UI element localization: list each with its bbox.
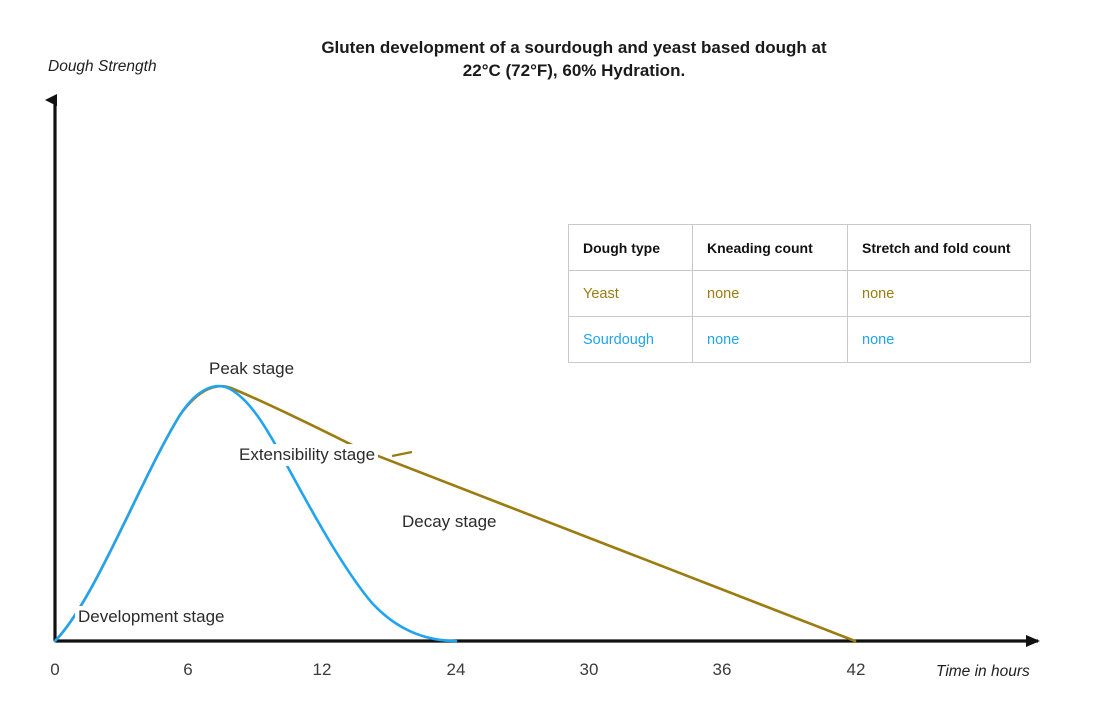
table-cell-dough-type: Yeast: [569, 271, 693, 317]
x-tick-label-30: 30: [569, 660, 609, 680]
table-cell-dough-type: Sourdough: [569, 317, 693, 363]
x-tick-label-42: 42: [836, 660, 876, 680]
annotation-decay-stage: Decay stage: [399, 511, 500, 533]
table-cell-stretchfold: none: [848, 317, 1031, 363]
dough-comparison-table: Dough type Kneading count Stretch and fo…: [568, 224, 1031, 363]
table-cell-kneading: none: [693, 271, 848, 317]
table-header-stretchfold: Stretch and fold count: [848, 225, 1031, 271]
x-tick-label-24: 24: [436, 660, 476, 680]
table-header-dough-type: Dough type: [569, 225, 693, 271]
x-tick-label-12: 12: [302, 660, 342, 680]
series-line-sourdough: [55, 386, 456, 641]
table-cell-kneading: none: [693, 317, 848, 363]
annotation-development-stage: Development stage: [75, 606, 227, 628]
x-tick-label-36: 36: [702, 660, 742, 680]
table-header-kneading: Kneading count: [693, 225, 848, 271]
table-cell-stretchfold: none: [848, 271, 1031, 317]
chart-canvas: Gluten development of a sourdough and ye…: [0, 0, 1108, 706]
x-tick-label-6: 6: [168, 660, 208, 680]
x-tick-label-0: 0: [35, 660, 75, 680]
extensibility-leader-line: [392, 452, 412, 456]
table-row: Sourdough none none: [569, 317, 1031, 363]
table-header-row: Dough type Kneading count Stretch and fo…: [569, 225, 1031, 271]
annotation-extensibility-stage: Extensibility stage: [236, 444, 378, 466]
table-row: Yeast none none: [569, 271, 1031, 317]
annotation-peak-stage: Peak stage: [206, 358, 297, 380]
